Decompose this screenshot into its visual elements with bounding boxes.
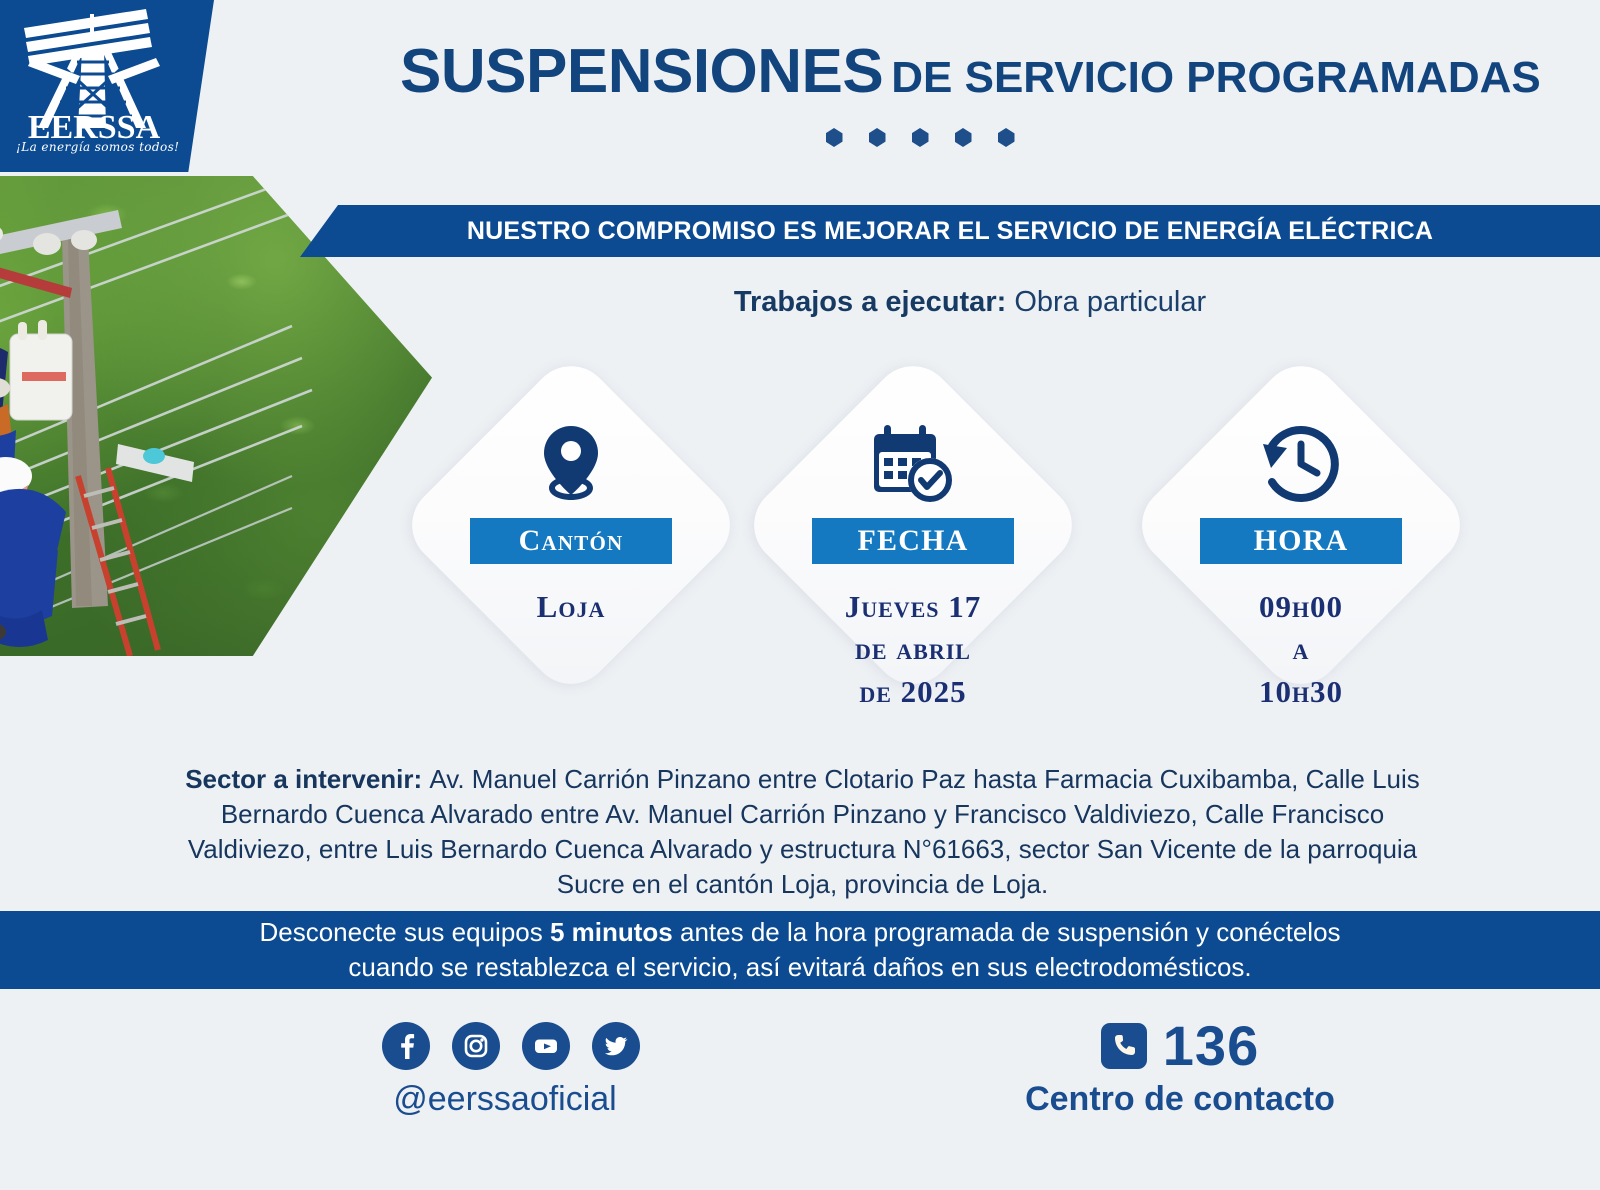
- card-fecha: FECHA Jueves 17de abrilde 2025: [748, 360, 1078, 690]
- divider-dot: [826, 128, 843, 147]
- card-value-line: Jueves 17: [845, 586, 982, 629]
- works-value: Obra particular: [1014, 286, 1206, 318]
- card-canton: Cantón Loja: [406, 360, 736, 690]
- warning-banner: Desconecte sus equipos 5 minutos antes d…: [0, 911, 1600, 989]
- contact-label: Centro de contacto: [940, 1080, 1420, 1119]
- card-canton-chip: Cantón: [470, 518, 672, 564]
- card-hora-chip: HORA: [1200, 518, 1402, 564]
- commitment-banner: NUESTRO COMPROMISO ES MEJORAR EL SERVICI…: [300, 205, 1600, 257]
- divider-dot: [955, 128, 972, 147]
- eerssa-logo-panel: EERSSA ¡La energía somos todos!: [0, 0, 214, 172]
- contact-center: 136 Centro de contacto: [940, 1018, 1420, 1119]
- card-value-line: de 2025: [845, 671, 982, 714]
- title-rest: DE SERVICIO PROGRAMADAS: [891, 53, 1541, 102]
- warning-text-a: Desconecte sus equipos: [259, 917, 550, 947]
- warning-highlight: 5 minutos: [550, 917, 673, 947]
- twitter-icon[interactable]: [592, 1022, 640, 1070]
- card-value-line: a: [1259, 628, 1343, 671]
- works-line: Trabajos a ejecutar: Obra particular: [400, 286, 1540, 319]
- clock-history-icon: [1259, 422, 1343, 506]
- contact-number: 136: [1163, 1018, 1259, 1074]
- warning-line-2: cuando se restablezca el servicio, así e…: [348, 950, 1251, 985]
- commitment-text: NUESTRO COMPROMISO ES MEJORAR EL SERVICI…: [467, 217, 1433, 246]
- page-title: SUSPENSIONESDE SERVICIO PROGRAMADAS: [400, 36, 1440, 107]
- social-links: [382, 1022, 640, 1070]
- divider-dot: [869, 128, 886, 147]
- transmission-tower-icon: EERSSA: [14, 6, 174, 146]
- title-divider-dots: [400, 128, 1440, 147]
- sector-label: Sector a intervenir:: [185, 764, 429, 794]
- youtube-icon[interactable]: [522, 1022, 570, 1070]
- poster-canvas: EERSSA ¡La energía somos todos! SUSPENSI…: [0, 0, 1600, 1190]
- title-strong: SUSPENSIONES: [400, 37, 883, 106]
- works-label: Trabajos a ejecutar:: [734, 286, 1006, 318]
- card-value-line: 09h00: [1259, 586, 1343, 629]
- card-value-line: 10h30: [1259, 671, 1343, 714]
- footer: @eerssaoficial 136 Centro de contacto: [0, 1000, 1600, 1130]
- card-hora: HORA 09h00a10h30: [1136, 360, 1466, 690]
- card-canton-value: Loja: [537, 586, 606, 629]
- card-fecha-chip: FECHA: [812, 518, 1014, 564]
- phone-icon: [1101, 1023, 1147, 1069]
- logo-slogan: ¡La energía somos todos!: [16, 140, 166, 154]
- divider-dot: [998, 128, 1015, 147]
- card-fecha-value: Jueves 17de abrilde 2025: [845, 586, 982, 714]
- facebook-icon[interactable]: [382, 1022, 430, 1070]
- card-value-line: de abril: [845, 628, 982, 671]
- location-pin-icon: [535, 422, 607, 506]
- sector-paragraph: Sector a intervenir: Av. Manuel Carrión …: [180, 762, 1425, 902]
- warning-line-1: Desconecte sus equipos 5 minutos antes d…: [259, 915, 1340, 950]
- instagram-icon[interactable]: [452, 1022, 500, 1070]
- warning-text-c: antes de la hora programada de suspensió…: [673, 917, 1341, 947]
- card-value-line: Loja: [537, 586, 606, 629]
- divider-dot: [912, 128, 929, 147]
- calendar-check-icon: [870, 422, 956, 506]
- info-cards: Cantón Loja: [0, 350, 1600, 740]
- social-handle[interactable]: @eerssaoficial: [330, 1080, 680, 1119]
- card-hora-value: 09h00a10h30: [1259, 586, 1343, 714]
